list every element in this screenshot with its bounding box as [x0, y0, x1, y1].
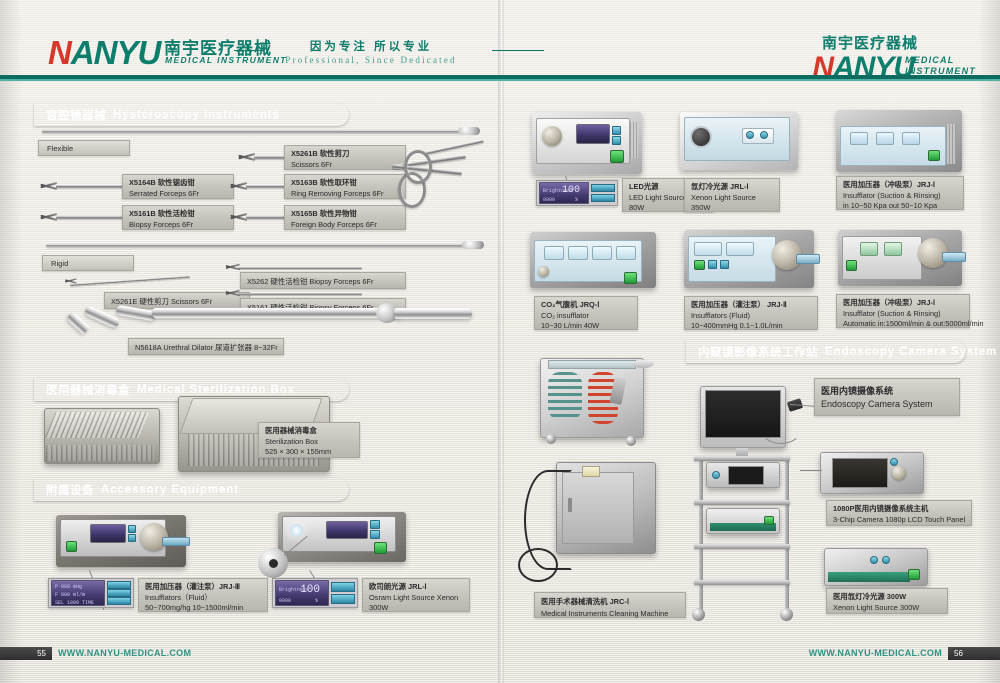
label-insufflator-fluid: 医用加压器（灌注泵）JRJ-Ⅲ Insufflators（Fluid） 50~7… — [138, 578, 268, 612]
section-banner-sterilization-cn: 医用器械消毒盒 — [46, 382, 130, 398]
lcd-led-unit: % — [575, 197, 578, 203]
rigid-scissors-shaft — [70, 276, 190, 286]
lcd-osram-second-row: 0000 — [279, 598, 291, 604]
cabinet-sticker — [582, 466, 600, 477]
label-xenon-light-source-en: Xenon Light Source — [691, 193, 773, 204]
footer-url-right[interactable]: WWW.NANYU-MEDICAL.COM — [809, 647, 942, 660]
label-scissors-flex: X5261B 软性剪刀 Scissors 6Fr — [284, 145, 406, 170]
cart-shelf-2 — [694, 500, 790, 505]
label-insufflator-suction-2-cn: 医用加压器（冲吸泵）JRJ-Ⅰ — [843, 298, 963, 309]
cart-device-camera-host — [706, 462, 780, 488]
camera-host-touch-panel[interactable] — [832, 458, 888, 488]
label-osram-light-source-spec: 300W — [369, 603, 463, 614]
label-camera-host-cn: 1080P医用内镜摄像系统主机 — [833, 504, 965, 515]
label-co2-insufflator-spec: 10~30 L/min 40W — [541, 321, 631, 332]
device-insufflator-suction-2 — [838, 230, 962, 286]
label-cleaning-machine-cn: 医用手术器械清洗机 JRC-Ⅰ — [541, 596, 679, 608]
label-serrated-forceps-en: Serrated Forceps 6Fr — [129, 189, 227, 200]
section-banner-accessory: 附属设备 Accessory Equipment — [34, 478, 349, 501]
group-tag-rigid: Rigid — [42, 255, 134, 271]
camera-cable — [760, 412, 802, 444]
section-banner-accessory-en: Accessory Equipment — [101, 484, 239, 496]
black-hose-coil — [518, 548, 558, 582]
cart-device-light-source — [706, 508, 780, 534]
device-insufflator-suction-1 — [836, 110, 962, 172]
label-insufflator-suction-2: 医用加压器（冲吸泵）JRJ-Ⅰ Insufflator (Suction & R… — [836, 294, 970, 328]
label-scissors-flex-en: Scissors 6Fr — [291, 160, 399, 171]
label-insufflator-suction-1-cn: 医用加压器（冲吸泵）JRJ-Ⅰ — [843, 180, 957, 191]
label-sterilization-box: 医用器械消毒盒 Sterilization Box 525 × 300 × 15… — [258, 422, 360, 458]
cabinet-door[interactable] — [562, 472, 634, 544]
label-serrated-forceps-cn: X5164B 软性锯齿钳 — [129, 178, 227, 189]
callout-osram-lcd: Brightness 100 0000 % — [272, 578, 358, 608]
label-insufflator-fluid-2-en: Insufflators (Fluid) — [691, 311, 811, 322]
section-banner-camera-system: 内窥镜影像系统工作站 Endoscopy Camera System — [686, 340, 966, 363]
label-camera-system: 医用内镜摄像系统 Endoscopy Camera System — [814, 378, 960, 416]
lcd-led-brightness-value: 100 — [562, 185, 580, 196]
label-urethral-dilator: N5618A Urethral Dilator 尿道扩张器 8~32Fr — [128, 338, 284, 355]
light-guide-coupler-center — [269, 559, 278, 568]
label-sterilization-box-cn: 医用器械消毒盒 — [265, 426, 353, 437]
rigid-biopsy-2-shaft — [238, 293, 362, 295]
page-footer: 55 WWW.NANYU-MEDICAL.COM WWW.NANYU-MEDIC… — [0, 641, 1000, 683]
flexible-scope-rod-1 — [42, 130, 462, 133]
catalog-spread: NANYU 南宇医疗器械 MEDICAL INSTRUMENT 因为专注 所以专… — [0, 0, 1000, 683]
label-biopsy-forceps-flex-en: Biopsy Forceps 6Fr — [129, 220, 227, 231]
slogan-rule-right — [492, 50, 544, 51]
device-camera-host — [820, 452, 924, 494]
sterilization-box-perforated-lid — [45, 412, 150, 438]
rigid-biopsy-1-shaft — [238, 267, 362, 269]
section-banner-hysteroscopy: 宫腔镜器械 Hysteroscopy Instruments — [34, 103, 349, 126]
page-gutter — [498, 0, 504, 683]
label-insufflator-fluid-2-cn: 医用加压器（灌注泵） JRJ-Ⅱ — [691, 300, 811, 311]
label-ring-removing-forceps-cn: X5163B 软性取环钳 — [291, 178, 399, 189]
label-rigid-biopsy-1: X5262 硬性活检钳 Biopsy Forceps 6Fr — [240, 272, 406, 289]
label-camera-system-en: Endoscopy Camera System — [821, 398, 953, 411]
device-xenon-300w — [824, 548, 928, 586]
page-header: NANYU 南宇医疗器械 MEDICAL INSTRUMENT 因为专注 所以专… — [0, 0, 1000, 82]
rigid-scissors-tip — [65, 278, 78, 285]
section-banner-hysteroscopy-en: Hysteroscopy Instruments — [113, 109, 280, 121]
label-insufflator-suction-1: 医用加压器（冲吸泵）JRJ-Ⅰ Insufflator (Suction & R… — [836, 176, 964, 210]
label-xenon-light-source-spec: 350W — [691, 203, 773, 214]
cart-shelf-3 — [694, 544, 790, 549]
lcd-insufflator-fluid: P 000 mHg F 000 ml/m SEL 1000 TIME — [51, 580, 105, 606]
callout-keys-osram[interactable] — [331, 581, 355, 605]
callout-insufflator-fluid-lcd: P 000 mHg F 000 ml/m SEL 1000 TIME — [48, 578, 134, 608]
cart-post-left — [698, 456, 703, 612]
sterilization-box-closed — [44, 408, 160, 464]
label-insufflator-fluid-cn: 医用加压器（灌注泵）JRJ-Ⅲ — [145, 582, 261, 593]
device-xenon-light-source — [680, 112, 798, 170]
logo-left-wordmark: NANYU — [48, 36, 160, 69]
cart-caster-right — [780, 608, 793, 621]
logo-left-rest: ANYU — [71, 34, 161, 71]
label-xenon-light-source: 氙灯冷光源 JRL-Ⅰ Xenon Light Source 350W — [684, 178, 780, 212]
hand-scissors-ring-2 — [404, 150, 432, 184]
flexible-scope-handle-1 — [458, 127, 480, 135]
cart-caster-left — [692, 608, 705, 621]
tray-top — [632, 360, 654, 368]
leader-camera-host — [800, 470, 822, 471]
label-osram-light-source-cn: 欧司朗光源 JRL-Ⅰ — [369, 582, 463, 593]
label-ring-removing-forceps-en: Ring Removing Forceps 6Fr — [291, 189, 399, 200]
label-camera-host: 1080P医用内镜摄像系统主机 3-Chip Camera 1080p LCD … — [826, 500, 972, 526]
label-co2-insufflator-en: CO₂ insufflator — [541, 311, 631, 322]
label-foreign-body-forceps: X5165B 软性异物钳 Foreign Body Forceps 6Fr — [284, 205, 406, 230]
cart-post-right — [784, 456, 789, 612]
cart-shelf-1 — [694, 456, 790, 461]
device-insufflator-fluid — [56, 515, 186, 567]
label-biopsy-forceps-flex: X5161B 软性活检钳 Biopsy Forceps 6Fr — [122, 205, 234, 230]
section-banner-camera-system-en: Endoscopy Camera System — [825, 346, 997, 358]
label-camera-system-cn: 医用内镜摄像系统 — [821, 385, 953, 398]
label-insufflator-fluid-2: 医用加压器（灌注泵） JRJ-Ⅱ Insufflators (Fluid) 10… — [684, 296, 818, 330]
label-insufflator-suction-1-en: Insufflator (Suction & Rinsing) — [843, 191, 957, 202]
label-osram-light-source: 欧司朗光源 JRL-Ⅰ Osram Light Source Xenon 300… — [362, 578, 470, 612]
header-rule-light — [0, 79, 1000, 81]
urethral-dilator-body — [152, 308, 402, 318]
cleaning-machine-caster-1 — [546, 434, 556, 444]
label-xenon-light-source-cn: 氙灯冷光源 JRL-Ⅰ — [691, 182, 773, 193]
label-insufflator-fluid-en: Insufflators（Fluid） — [145, 593, 261, 604]
label-xenon-300w: 医用氙灯冷光源 300W Xenon Light Source 300W — [826, 588, 948, 614]
label-xenon-300w-cn: 医用氙灯冷光源 300W — [833, 592, 941, 603]
label-insufflator-fluid-spec: 50~700mg/hg 10~1500ml/min — [145, 603, 261, 614]
label-sterilization-box-size: 525 × 300 × 155mm — [265, 447, 353, 458]
label-cleaning-machine-en: Medical Instruments Cleaning Machine — [541, 608, 679, 620]
label-insufflator-suction-2-en: Insufflator (Suction & Rinsing) — [843, 309, 963, 320]
label-insufflator-fluid-2-spec: 10~400mmHg 0.1~1.0L/min — [691, 321, 811, 332]
logo-left: NANYU 南宇医疗器械 MEDICAL INSTRUMENT — [48, 36, 160, 69]
label-biopsy-forceps-flex-cn: X5161B 软性活检钳 — [129, 209, 227, 220]
section-banner-hysteroscopy-cn: 宫腔镜器械 — [46, 107, 106, 123]
label-scissors-flex-cn: X5261B 软性剪刀 — [291, 149, 399, 160]
xenon-light-port-icon — [690, 126, 712, 148]
label-urethral-dilator-text: N5618A Urethral Dilator 尿道扩张器 8~32Fr — [135, 342, 277, 354]
flexible-scope-rod-2 — [46, 244, 466, 247]
logo-right-sub-line1: MEDICAL — [905, 55, 976, 66]
page-number-left: 55 — [0, 647, 52, 660]
section-banner-camera-system-cn: 内窥镜影像系统工作站 — [698, 344, 818, 360]
lcd-led-second-row: 0000 — [543, 197, 555, 203]
lcd-osram: Brightness 100 0000 % — [275, 580, 329, 606]
cleaning-machine-caster-2 — [626, 436, 636, 446]
callout-keys-led[interactable] — [591, 183, 615, 203]
device-osram-light-source — [278, 512, 406, 562]
cart-shelf-4 — [694, 580, 790, 585]
urethral-dilator-handle — [394, 308, 472, 319]
footer-url-left[interactable]: WWW.NANYU-MEDICAL.COM — [58, 647, 191, 660]
group-tag-flexible: Flexible — [38, 140, 130, 156]
label-co2-insufflator-cn: CO₂气腹机 JRQ-Ⅰ — [541, 300, 631, 311]
device-co2-insufflator — [530, 232, 656, 288]
slogan: 因为专注 所以专业 Professional, Since Dedicated — [256, 38, 486, 65]
lcd-osram-brightness-value: 100 — [300, 584, 320, 596]
coiled-hose-teal — [548, 372, 582, 420]
label-sterilization-box-en: Sterilization Box — [265, 437, 353, 448]
logo-left-initial: N — [48, 34, 71, 71]
logo-right-sub: MEDICAL INSTRUMENT — [905, 55, 976, 77]
slogan-en: Professional, Since Dedicated — [256, 55, 486, 65]
section-banner-accessory-cn: 附属设备 — [46, 482, 94, 498]
lcd-led: Brightness 100 0000 % — [539, 182, 589, 204]
label-insufflator-suction-1-spec: in 10~50 Kpa out 50~10 Kpa — [843, 201, 957, 212]
label-osram-light-source-en: Osram Light Source Xenon — [369, 593, 463, 604]
label-insufflator-suction-2-spec: Automatic in:1500ml/min & out:5000ml/min — [843, 319, 963, 330]
label-cleaning-machine: 医用手术器械清洗机 JRC-Ⅰ Medical Instruments Clea… — [534, 592, 686, 618]
label-xenon-300w-en: Xenon Light Source 300W — [833, 603, 941, 614]
page-number-right: 56 — [948, 647, 1000, 660]
label-camera-host-en: 3-Chip Camera 1080p LCD Touch Panel — [833, 515, 965, 526]
hand-scissors-blade — [424, 140, 483, 155]
flexible-scope-handle-2 — [462, 241, 484, 249]
label-serrated-forceps: X5164B 软性锯齿钳 Serrated Forceps 6Fr — [122, 174, 234, 199]
device-insufflator-fluid-2 — [684, 230, 814, 288]
light-port-icon — [290, 524, 303, 537]
callout-keys-fluid[interactable] — [107, 581, 131, 605]
callout-led-lcd: Brightness 100 0000 % — [536, 180, 618, 206]
label-rigid-biopsy-1-text: X5262 硬性活检钳 Biopsy Forceps 6Fr — [247, 276, 399, 288]
lcd-osram-unit: % — [315, 598, 318, 604]
section-banner-sterilization-en: Medical Sterilization Box — [137, 384, 295, 396]
label-foreign-body-forceps-en: Foreign Body Forceps 6Fr — [291, 220, 399, 231]
label-co2-insufflator: CO₂气腹机 JRQ-Ⅰ CO₂ insufflator 10~30 L/min… — [534, 296, 638, 330]
logo-right-cn: 南宇医疗器械 — [822, 32, 918, 53]
slogan-cn: 因为专注 所以专业 — [256, 38, 486, 54]
device-led-light-source — [532, 112, 642, 174]
label-foreign-body-forceps-cn: X5165B 软性异物钳 — [291, 209, 399, 220]
label-ring-removing-forceps: X5163B 软性取环钳 Ring Removing Forceps 6Fr — [284, 174, 406, 199]
xenon-300w-green-strip — [828, 572, 910, 582]
